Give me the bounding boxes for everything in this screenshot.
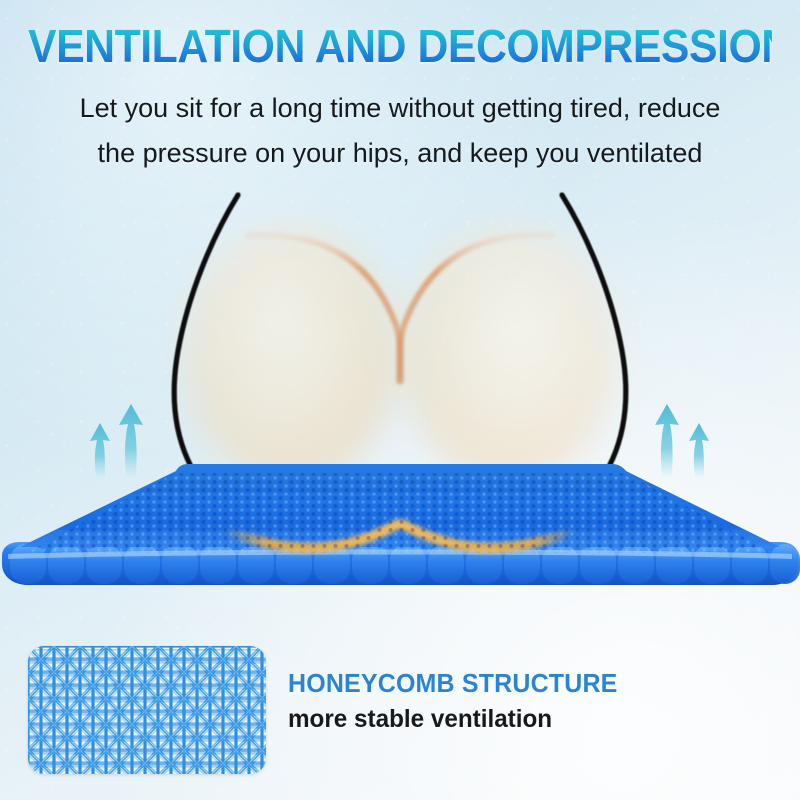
callout-title: HONEYCOMB STRUCTURE [288,668,739,699]
honeycomb-swatch [28,646,266,774]
honeycomb-pattern-icon [28,646,266,774]
product-feature-banner: VENTILATION AND DECOMPRESSION Let you si… [0,0,800,800]
page-title: VENTILATION AND DECOMPRESSION [28,20,772,72]
honeycomb-callout: HONEYCOMB STRUCTURE more stable ventilat… [288,668,758,734]
callout-subtitle: more stable ventilation [288,705,744,734]
cushion-body-icon [0,430,800,610]
gel-seat-cushion [0,430,800,610]
subtitle-line-1: Let you sit for a long time without gett… [30,86,770,131]
page-subtitle: Let you sit for a long time without gett… [30,86,770,176]
subtitle-line-2: the pressure on your hips, and keep you … [30,131,770,176]
